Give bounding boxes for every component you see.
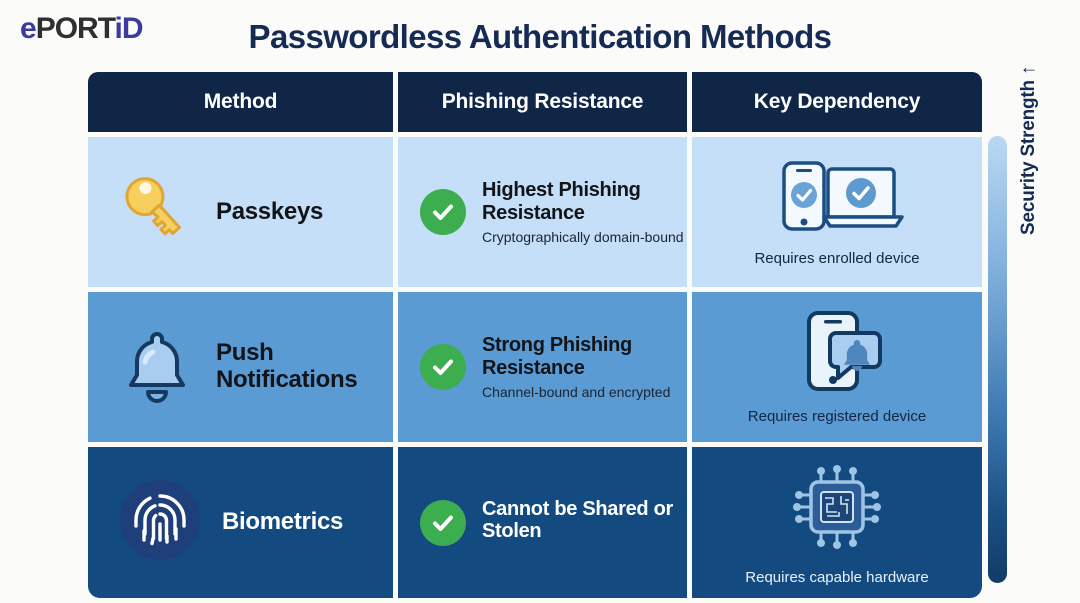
key-dependency-cell: Requires registered device [692,292,982,442]
security-strength-label: Security Strength ↑ [1018,0,1040,235]
resistance-subtitle: Cryptographically domain-bound [482,229,687,245]
column-header-method: Method [88,72,393,132]
key-dependency-cell: Requires capable hardware [692,447,982,598]
resistance-subtitle: Channel-bound and encrypted [482,384,687,400]
phone-and-laptop-verified-icon [762,157,912,240]
green-check-icon [420,189,466,235]
method-label: Push Notifications [216,340,393,394]
infographic-page: ePORTiD Passwordless Authentication Meth… [0,0,1080,603]
phone-notification-icon [781,309,893,398]
dependency-caption: Requires registered device [748,408,926,425]
security-strength-gauge [988,136,1007,583]
phishing-resistance-cell: Highest Phishing Resistance Cryptographi… [398,137,687,287]
green-check-icon [420,344,466,390]
phishing-resistance-cell: Cannot be Shared or Stolen [398,447,687,598]
method-label: Biometrics [222,509,343,536]
resistance-title: Strong Phishing Resistance [482,334,687,379]
dependency-caption: Requires capable hardware [745,569,928,586]
phishing-resistance-cell: Strong Phishing Resistance Channel-bound… [398,292,687,442]
comparison-table: Method Phishing Resistance Key Dependenc… [88,72,972,583]
key-icon [114,167,200,258]
table-row: Passkeys [88,137,393,287]
dependency-caption: Requires enrolled device [754,250,919,267]
key-dependency-cell: Requires enrolled device [692,137,982,287]
method-label: Passkeys [216,199,323,226]
column-header-dependency: Key Dependency [692,72,982,132]
resistance-title: Cannot be Shared or Stolen [482,498,687,543]
table-row: Push Notifications [88,292,393,442]
resistance-title: Highest Phishing Resistance [482,179,687,224]
column-header-phishing: Phishing Resistance [398,72,687,132]
bell-icon [114,322,200,413]
page-title: Passwordless Authentication Methods [0,18,1080,56]
chip-icon [783,460,891,559]
table-row: Biometrics [88,447,393,598]
fingerprint-icon [114,474,206,571]
green-check-icon [420,500,466,546]
